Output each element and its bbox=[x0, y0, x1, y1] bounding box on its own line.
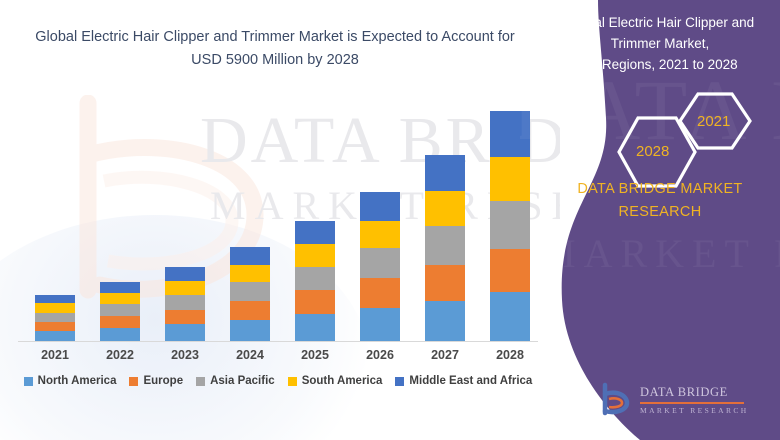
legend-item-south-america[interactable]: South America bbox=[288, 375, 383, 387]
bar-segment[interactable] bbox=[360, 308, 400, 341]
bar-group-2021 bbox=[26, 295, 84, 341]
legend-swatch-icon bbox=[288, 377, 297, 386]
bar-segment[interactable] bbox=[360, 192, 400, 221]
stacked-bar[interactable] bbox=[100, 282, 140, 341]
x-axis-tick-2026: 2026 bbox=[351, 348, 409, 362]
bar-segment[interactable] bbox=[425, 265, 465, 301]
bar-segment[interactable] bbox=[230, 301, 270, 320]
bar-segment[interactable] bbox=[230, 320, 270, 341]
bar-segment[interactable] bbox=[100, 293, 140, 304]
chart-panel: DATA BRIDGE MARKET RESEARCH Global Elect… bbox=[0, 0, 560, 440]
hexagon-front-label: 2028 bbox=[636, 143, 669, 160]
legend-label: Asia Pacific bbox=[210, 375, 275, 387]
stacked-bar[interactable] bbox=[35, 295, 75, 341]
bar-group-2026 bbox=[351, 192, 409, 341]
bar-group-2024 bbox=[221, 247, 279, 341]
bar-segment[interactable] bbox=[295, 314, 335, 341]
legend-item-asia-pacific[interactable]: Asia Pacific bbox=[196, 375, 275, 387]
panel-title-line-3: By Regions, 2021 to 2028 bbox=[550, 54, 770, 75]
logo-text: DATA BRIDGE MARKET RESEARCH bbox=[640, 385, 752, 415]
hexagon-back-label: 2021 bbox=[697, 113, 730, 130]
bar-segment[interactable] bbox=[100, 282, 140, 293]
bar-segment[interactable] bbox=[230, 282, 270, 300]
bar-group-2022 bbox=[91, 282, 149, 341]
bar-segment[interactable] bbox=[165, 324, 205, 341]
hexagon-badges: 2021 2028 bbox=[600, 90, 775, 190]
stacked-bar[interactable] bbox=[425, 155, 465, 341]
bar-segment[interactable] bbox=[295, 244, 335, 266]
bar-segment[interactable] bbox=[425, 301, 465, 341]
bar-segment[interactable] bbox=[100, 316, 140, 328]
infographic-canvas: DATA BRIDGE MARKET RESEARCH Global Elect… bbox=[0, 0, 780, 440]
x-axis-baseline bbox=[18, 341, 538, 342]
logo-company-name: DATA BRIDGE bbox=[640, 385, 752, 400]
bar-group-2027 bbox=[416, 155, 474, 341]
plot-area bbox=[18, 100, 538, 342]
bar-segment[interactable] bbox=[165, 267, 205, 281]
x-axis-tick-2023: 2023 bbox=[156, 348, 214, 362]
bar-segment[interactable] bbox=[295, 290, 335, 314]
legend-swatch-icon bbox=[24, 377, 33, 386]
x-axis-tick-2027: 2027 bbox=[416, 348, 474, 362]
logo-b-mark-icon bbox=[598, 382, 632, 416]
stacked-bar[interactable] bbox=[230, 247, 270, 341]
bar-segment[interactable] bbox=[165, 281, 205, 295]
legend-label: South America bbox=[302, 375, 383, 387]
chart-legend: North AmericaEuropeAsia PacificSouth Ame… bbox=[18, 375, 538, 387]
bar-segment[interactable] bbox=[35, 331, 75, 341]
bar-segment[interactable] bbox=[35, 313, 75, 322]
legend-label: Europe bbox=[143, 375, 183, 387]
legend-swatch-icon bbox=[129, 377, 138, 386]
legend-item-europe[interactable]: Europe bbox=[129, 375, 183, 387]
bar-segment[interactable] bbox=[230, 265, 270, 282]
brand-line-2: RESEARCH bbox=[548, 201, 772, 224]
bar-segment[interactable] bbox=[360, 248, 400, 278]
hexagon-outline-icons bbox=[600, 90, 775, 190]
stacked-bar[interactable] bbox=[165, 267, 205, 341]
x-axis-tick-2021: 2021 bbox=[26, 348, 84, 362]
bar-group-2025 bbox=[286, 221, 344, 341]
bar-segment[interactable] bbox=[35, 303, 75, 312]
x-axis-tick-2022: 2022 bbox=[91, 348, 149, 362]
bar-segment[interactable] bbox=[425, 155, 465, 191]
legend-item-middle-east-and-africa[interactable]: Middle East and Africa bbox=[395, 375, 532, 387]
x-axis-tick-2024: 2024 bbox=[221, 348, 279, 362]
stacked-bar[interactable] bbox=[295, 221, 335, 341]
panel-title: Global Electric Hair Clipper and Trimmer… bbox=[550, 12, 770, 75]
legend-label: North America bbox=[38, 375, 117, 387]
x-axis-tick-labels: 20212022202320242025202620272028 bbox=[18, 348, 538, 370]
bar-segment[interactable] bbox=[100, 328, 140, 341]
bar-segment[interactable] bbox=[295, 267, 335, 291]
bar-segment[interactable] bbox=[165, 310, 205, 325]
logo-divider bbox=[640, 402, 744, 404]
stacked-bar[interactable] bbox=[360, 192, 400, 341]
page-title: Global Electric Hair Clipper and Trimmer… bbox=[30, 26, 520, 72]
panel-title-line-1: Global Electric Hair Clipper and bbox=[550, 12, 770, 33]
legend-label: Middle East and Africa bbox=[409, 375, 532, 387]
footer-logo: DATA BRIDGE MARKET RESEARCH bbox=[598, 380, 750, 420]
legend-swatch-icon bbox=[395, 377, 404, 386]
bar-segment[interactable] bbox=[35, 295, 75, 303]
branding-panel: DATA BRIDGE MARKET RESEARCH Global Elect… bbox=[520, 0, 780, 440]
legend-swatch-icon bbox=[196, 377, 205, 386]
bar-segment[interactable] bbox=[425, 191, 465, 226]
bar-segment[interactable] bbox=[35, 322, 75, 331]
bar-segment[interactable] bbox=[100, 304, 140, 316]
bar-segment[interactable] bbox=[165, 295, 205, 310]
brand-line-1: DATA BRIDGE MARKET bbox=[548, 178, 772, 201]
bar-segment[interactable] bbox=[360, 278, 400, 307]
legend-item-north-america[interactable]: North America bbox=[24, 375, 117, 387]
brand-name: DATA BRIDGE MARKET RESEARCH bbox=[548, 178, 772, 224]
bar-segment[interactable] bbox=[295, 221, 335, 244]
logo-tagline: MARKET RESEARCH bbox=[640, 406, 752, 415]
bar-segment[interactable] bbox=[425, 226, 465, 265]
bar-group-2023 bbox=[156, 267, 214, 341]
x-axis-tick-2025: 2025 bbox=[286, 348, 344, 362]
panel-title-line-2: Trimmer Market, bbox=[550, 33, 770, 54]
bar-segment[interactable] bbox=[230, 247, 270, 264]
bar-segment[interactable] bbox=[360, 221, 400, 249]
